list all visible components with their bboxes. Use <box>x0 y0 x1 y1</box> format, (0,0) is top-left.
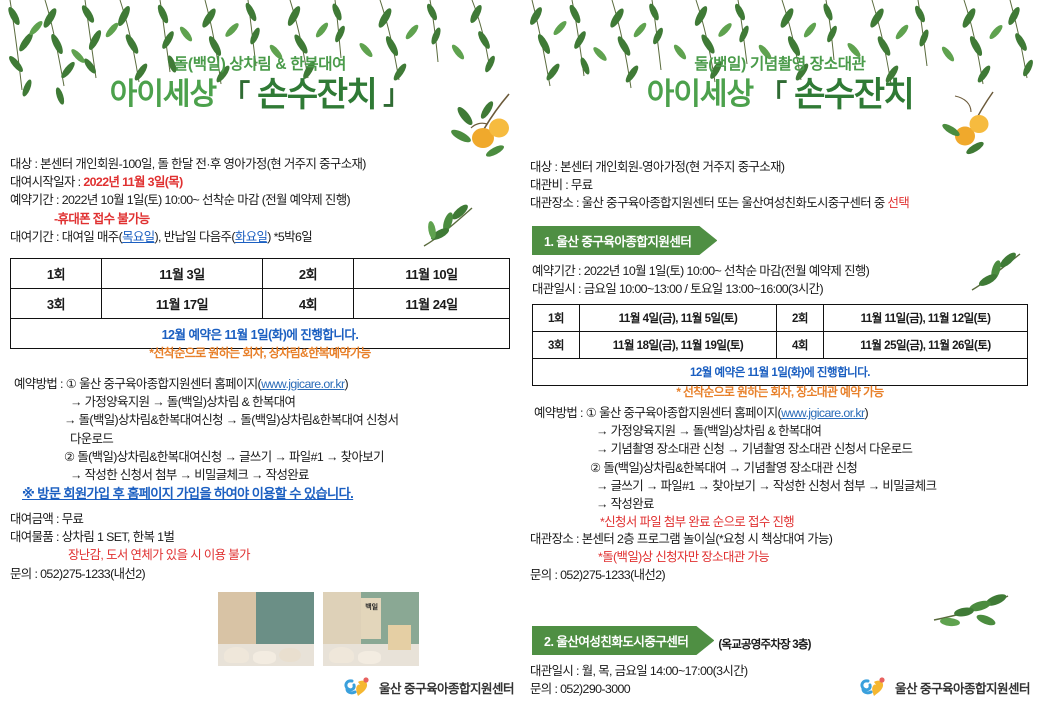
right-method-line-4: ② 돌(백일)상차림&한복대여 → 기념촬영 장소대관 신청 <box>534 459 936 477</box>
left-panel: 돌(백일) 상차림 & 한복대여 아이세상 「 손수잔치 」 대상 : 본센터 … <box>0 0 520 720</box>
section-1-period: 예약기간 : 2022년 10월 1일(토) 10:00~ 선착순 마감(전월 … <box>532 262 869 280</box>
left-cell-1-0: 3회 <box>11 289 102 319</box>
right-section1-place: 대관장소 : 본센터 2층 프로그램 놀이실(*요청 시 책상대여 가능) <box>530 530 832 548</box>
table-row: 3회 11월 18일(금), 11월 19일(토) 4회 11월 25일(금),… <box>533 332 1028 359</box>
section-2-banner: 2. 울산여성친화도시중구센터 <box>532 626 714 655</box>
left-period-line: 예약기간 : 2022년 10월 1일(토) 10:00~ 선착순 마감 (전월… <box>10 191 366 209</box>
leaf-sprig-decoration-right-bottom <box>930 586 1016 642</box>
left-rental-day-1: 목요일 <box>122 230 154 244</box>
left-title-brand: 아이세상 <box>110 80 216 110</box>
footer-logo-right: 울산 중구육아종합지원센터 <box>858 676 1030 698</box>
right-star-note: * 선착순으로 원하는 회차, 장소대관 예약 가능 <box>520 384 1040 401</box>
left-method-block: 예약방법 : ① 울산 중구육아종합지원센터 홈페이지(www.jgicare.… <box>14 375 398 504</box>
leaf-sprig-decoration-left <box>418 200 482 252</box>
right-place-line: 대관장소 : 울산 중구육아종합지원센터 또는 울산여성친화도시중구센터 중 선… <box>530 194 909 212</box>
table-row: 1회 11월 4일(금), 11월 5일(토) 2회 11월 11일(금), 1… <box>533 305 1028 332</box>
bracket-open-icon-right: 「 <box>760 82 787 109</box>
right-schedule-table: 1회 11월 4일(금), 11월 5일(토) 2회 11월 11일(금), 1… <box>532 304 1028 386</box>
section-2-contact: 문의 : 052)290-3000 <box>530 680 748 698</box>
bracket-close-icon: 」 <box>383 82 410 109</box>
homepage-link-right[interactable]: www.jgicare.or.kr <box>781 406 864 420</box>
right-cell-0-3: 11월 11일(금), 11월 12일(토) <box>824 305 1028 332</box>
footer-logo-name-left: 울산 중구육아종합지원센터 <box>379 678 514 697</box>
left-cell-0-0: 1회 <box>11 259 102 289</box>
right-section1-place-note: *돌(백일)상 신청자만 장소대관 가능 <box>530 548 832 566</box>
left-method-line-5: ② 돌(백일)상차림&한복대여신청 → 글쓰기 → 파일#1 → 찾아보기 <box>14 448 398 466</box>
right-method-note: *신청서 파일 첨부 완료 순으로 접수 진행 <box>534 513 936 531</box>
right-kicker: 돌(백일) 기념촬영 장소대관 <box>520 56 1040 73</box>
section-2-info: 대관일시 : 월, 목, 금요일 14:00~17:00(3시간) 문의 : 0… <box>530 662 748 698</box>
right-place-highlight: 선택 <box>888 196 910 210</box>
right-cell-1-2: 4회 <box>777 332 824 359</box>
sample-photos: 백일 <box>218 592 419 666</box>
table-row: 12월 예약은 11월 1일(화)에 진행합니다. <box>11 319 510 349</box>
right-method-line-3: → 기념촬영 장소대관 신청 → 기념촬영 장소대관 신청서 다운로드 <box>534 440 936 458</box>
homepage-link[interactable]: www.jgicare.or.kr <box>261 377 344 391</box>
right-method-line-5: → 글쓰기 → 파일#1 → 찾아보기 → 작성한 신청서 첨부 → 비밀글체크 <box>534 477 936 495</box>
center-logo-icon-right <box>858 676 888 698</box>
section-1-hours: 대관일시 : 금요일 10:00~13:00 / 토요일 13:00~16:00… <box>532 280 869 298</box>
left-rental-period-line: 대여기간 : 대여일 매주(목요일), 반납일 다음주(화요일) *5박6일 <box>10 228 366 246</box>
left-fee-line: 대여금액 : 무료 <box>10 510 250 528</box>
right-method-line-1: 예약방법 : ① 울산 중구육아종합지원센터 홈페이지(www.jgicare.… <box>534 404 936 422</box>
bracket-open-icon: 「 <box>223 82 250 109</box>
left-footer-info: 대여금액 : 무료 대여물품 : 상차림 1 SET, 한복 1벌 장난감, 도… <box>10 510 250 583</box>
section-2-banner-subtitle: (옥교공영주차장 3층) <box>718 636 810 655</box>
footer-logo-name-right: 울산 중구육아종합지원센터 <box>895 678 1030 697</box>
footer-logo-left: 울산 중구육아종합지원센터 <box>342 676 514 698</box>
photo-table-setting-1 <box>218 592 314 666</box>
right-section1-contact: 문의 : 052)275-1233(내선2) <box>530 566 832 584</box>
right-intro-text: 대상 : 본센터 개인회원-영아가정(현 거주지 중구소재) 대관비 : 무료 … <box>530 158 909 213</box>
right-cell-1-1: 11월 18일(금), 11월 19일(토) <box>580 332 777 359</box>
left-title-main: 손수잔치 <box>257 78 376 112</box>
left-cell-1-3: 11월 24일 <box>354 289 510 319</box>
right-header: 돌(백일) 기념촬영 장소대관 아이세상 「 손수잔치 <box>520 0 1040 112</box>
left-cell-0-2: 2회 <box>263 259 354 289</box>
left-intro-text: 대상 : 본센터 개인회원-100일, 돌 한달 전·후 영아가정(현 거주지 … <box>10 155 366 246</box>
left-cell-1-2: 4회 <box>263 289 354 319</box>
section-1-banner-wrap: 1. 울산 중구육아종합지원센터 <box>532 226 717 255</box>
left-membership-notice: ※ 방문 회원가입 후 홈페이지 가입을 하여야 이용할 수 있습니다. <box>14 484 398 503</box>
left-cell-0-1: 11월 3일 <box>102 259 263 289</box>
section-1-period-block: 예약기간 : 2022년 10월 1일(토) 10:00~ 선착순 마감(전월 … <box>532 262 869 298</box>
right-cell-1-0: 3회 <box>533 332 580 359</box>
left-rental-day-2: 화요일 <box>235 230 267 244</box>
table-row: 3회 11월 17일 4회 11월 24일 <box>11 289 510 319</box>
left-cell-0-3: 11월 10일 <box>354 259 510 289</box>
left-table-note: 12월 예약은 11월 1일(화)에 진행합니다. <box>11 319 510 349</box>
section-1-banner: 1. 울산 중구육아종합지원센터 <box>532 226 717 255</box>
left-restriction-line: 장난감, 도서 연체가 있을 시 이용 불가 <box>10 546 250 564</box>
left-star-note: *선착순으로 원하는 회차, 상차림&한복예약가능 <box>0 345 520 363</box>
table-row: 12월 예약은 11월 1일(화)에 진행합니다. <box>533 359 1028 386</box>
left-start-date-value: 2022년 11월 3일(목) <box>83 175 182 189</box>
right-cell-0-1: 11월 4일(금), 11월 5일(토) <box>580 305 777 332</box>
right-cell-0-2: 2회 <box>777 305 824 332</box>
center-logo-icon <box>342 676 372 698</box>
right-method-line-6: → 작성완료 <box>534 495 936 513</box>
left-title-row: 아이세상 「 손수잔치 」 <box>0 78 520 112</box>
left-target-line: 대상 : 본센터 개인회원-100일, 돌 한달 전·후 영아가정(현 거주지 … <box>10 155 366 173</box>
left-kicker: 돌(백일) 상차림 & 한복대여 <box>0 56 520 73</box>
section-2-banner-wrap: 2. 울산여성친화도시중구센터 (옥교공영주차장 3층) <box>532 626 811 655</box>
left-no-mobile-note: -휴대폰 접수 불가능 <box>10 210 366 228</box>
right-cell-0-0: 1회 <box>533 305 580 332</box>
left-contact-line: 문의 : 052)275-1233(내선2) <box>10 565 250 583</box>
left-method-line-3: → 돌(백일)상차림&한복대여신청 → 돌(백일)상차림&한복대여 신청서 <box>14 411 398 429</box>
right-target-line: 대상 : 본센터 개인회원-영아가정(현 거주지 중구소재) <box>530 158 909 176</box>
left-start-date-line: 대여시작일자 : 2022년 11월 3일(목) <box>10 173 366 191</box>
right-place-block: 대관장소 : 본센터 2층 프로그램 놀이실(*요청 시 책상대여 가능) *돌… <box>530 530 832 585</box>
leaf-sprig-decoration-right-mid <box>968 248 1028 296</box>
right-table-note: 12월 예약은 11월 1일(화)에 진행합니다. <box>533 359 1028 386</box>
left-method-line-2: → 가정양육지원 → 돌(백일)상차림 & 한복대여 <box>14 393 398 411</box>
right-method-block: 예약방법 : ① 울산 중구육아종합지원센터 홈페이지(www.jgicare.… <box>534 404 936 532</box>
left-items-line: 대여물품 : 상차림 1 SET, 한복 1벌 <box>10 528 250 546</box>
right-cell-1-3: 11월 25일(금), 11월 26일(토) <box>824 332 1028 359</box>
right-title-main: 손수잔치 <box>794 78 913 112</box>
left-method-line-1: 예약방법 : ① 울산 중구육아종합지원센터 홈페이지(www.jgicare.… <box>14 375 398 393</box>
photo-scroll-caption: 백일 <box>365 604 378 611</box>
right-panel: 돌(백일) 기념촬영 장소대관 아이세상 「 손수잔치 대상 : 본센터 개인회… <box>520 0 1040 720</box>
poster-root: 돌(백일) 상차림 & 한복대여 아이세상 「 손수잔치 」 대상 : 본센터 … <box>0 0 1040 720</box>
left-cell-1-1: 11월 17일 <box>102 289 263 319</box>
left-method-line-6: → 작성한 신청서 첨부 → 비밀글체크 → 작성완료 <box>14 466 398 484</box>
right-fee-line: 대관비 : 무료 <box>530 176 909 194</box>
right-method-line-2: → 가정양육지원 → 돌(백일)상차림 & 한복대여 <box>534 422 936 440</box>
left-method-line-4: 다운로드 <box>14 430 398 448</box>
right-title-row: 아이세상 「 손수잔치 <box>520 78 1040 112</box>
right-title-brand: 아이세상 <box>647 80 753 110</box>
left-header: 돌(백일) 상차림 & 한복대여 아이세상 「 손수잔치 」 <box>0 0 520 112</box>
section-2-hours: 대관일시 : 월, 목, 금요일 14:00~17:00(3시간) <box>530 662 748 680</box>
table-row: 1회 11월 3일 2회 11월 10일 <box>11 259 510 289</box>
photo-table-setting-2: 백일 <box>323 592 419 666</box>
left-schedule-table: 1회 11월 3일 2회 11월 10일 3회 11월 17일 4회 11월 2… <box>10 258 510 349</box>
